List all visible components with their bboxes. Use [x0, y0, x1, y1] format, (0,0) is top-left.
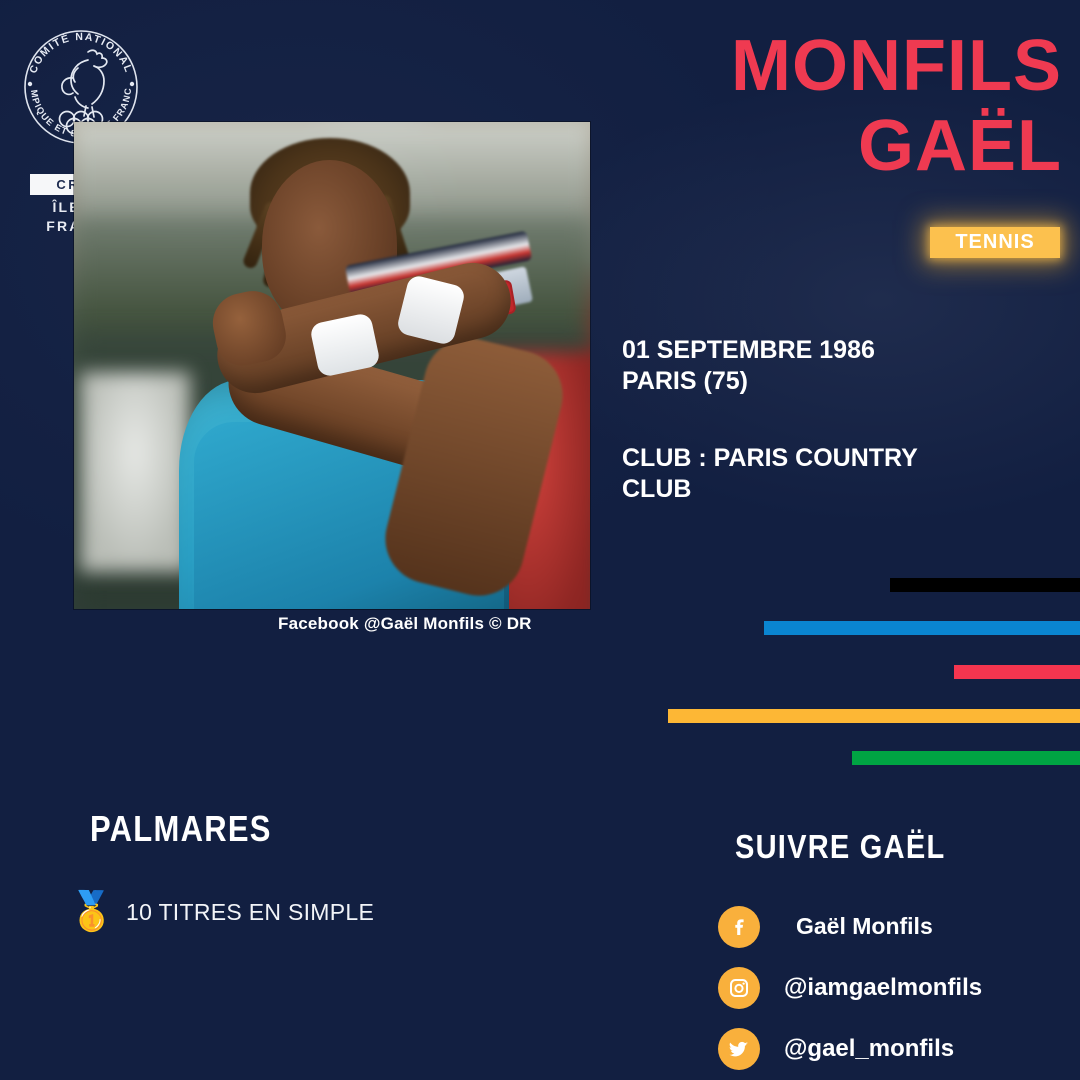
athlete-photo: w [74, 122, 590, 609]
twitter-icon[interactable] [718, 1028, 760, 1070]
athlete-first-name: GAËL [632, 110, 1062, 182]
olympic-bar-green [852, 751, 1080, 765]
athlete-info: 01 SEPTEMBRE 1986 PARIS (75) CLUB : PARI… [622, 335, 1062, 505]
club-line-1: CLUB : PARIS COUNTRY [622, 443, 1062, 474]
palmares-item-label: 10 TITRES EN SIMPLE [126, 899, 374, 926]
birth-date: 01 SEPTEMBRE 1986 [622, 335, 1062, 366]
olympic-bar-yellow [668, 709, 1080, 723]
club-line-2: CLUB [622, 474, 1062, 505]
facebook-label: Gaël Monfils [796, 913, 933, 940]
birth-place: PARIS (75) [622, 366, 1062, 397]
twitter-label: @gael_monfils [784, 1035, 954, 1063]
social-link-instagram[interactable]: @iamgaelmonfils [718, 957, 982, 1018]
instagram-label: @iamgaelmonfils [784, 974, 982, 1002]
info-spacer [622, 397, 1062, 443]
photo-credit: Facebook @Gaël Monfils © DR [278, 614, 532, 634]
palmares-item: 🥇 10 TITRES EN SIMPLE [68, 890, 374, 934]
palmares-title: PALMARES [90, 808, 272, 850]
athlete-last-name: MONFILS [632, 30, 1062, 102]
olympic-bar-black [890, 578, 1080, 592]
social-link-facebook[interactable]: Gaël Monfils [718, 896, 982, 957]
olympic-bar-red [954, 665, 1080, 679]
athlete-name-block: MONFILS GAËL [632, 30, 1062, 182]
sport-badge-label: TENNIS [955, 231, 1034, 254]
svg-text:COMITÉ NATIONAL: COMITÉ NATIONAL [27, 31, 135, 75]
social-link-twitter[interactable]: @gael_monfils [718, 1018, 982, 1079]
sport-badge: TENNIS [930, 227, 1060, 258]
follow-title: SUIVRE GAËL [735, 828, 945, 866]
instagram-icon[interactable] [718, 967, 760, 1009]
photo-background-person-left [80, 372, 190, 572]
olympic-bar-blue [764, 621, 1080, 635]
gold-medal-icon: 🥇 [68, 890, 114, 934]
social-links: Gaël Monfils @iamgaelmonfils @gael_monfi… [718, 896, 982, 1079]
facebook-icon[interactable] [718, 906, 760, 948]
palmares-list: 🥇 10 TITRES EN SIMPLE [68, 890, 374, 934]
